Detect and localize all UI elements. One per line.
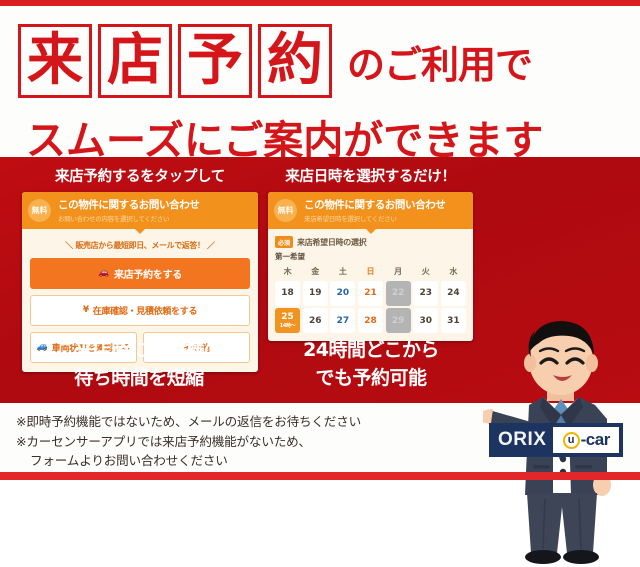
inquiry-form-header: 無料 この物件に関するお問い合わせ お問い合わせの内容を選択してください (22, 192, 258, 229)
caption-line: 24時間どこから (266, 337, 476, 365)
calendar-day-number: 27 (337, 316, 350, 326)
calendar-day-cell[interactable]: 23 (413, 281, 438, 306)
calendar-header-title: この物件に関するお問い合わせ (304, 197, 467, 212)
calendar-day-cell[interactable]: 2514時〜 (275, 308, 300, 333)
calendar-day-number: 21 (364, 288, 377, 298)
headline: 来 店 予 約 のご利用で スムーズにご案内ができます (0, 10, 640, 155)
calendar-day-number: 29 (392, 316, 405, 326)
kanji-box-2: 店 (98, 24, 172, 98)
free-badge: 無料 (274, 199, 297, 222)
caption-line: でも予約可能 (266, 365, 476, 393)
reserve-visit-label: 来店予約をする (114, 266, 182, 281)
calendar-day-cell: 22 (386, 281, 411, 306)
calendar-day-cell[interactable]: 18 (275, 281, 300, 306)
calendar-section-head: 必須 来店希望日時の選択 (275, 236, 466, 248)
calendar-header-sub: 来店希望日時を選択してください (304, 213, 467, 223)
caption-line: ご来店時にお客様の (14, 337, 264, 365)
bottom-red-rule (0, 472, 640, 480)
calendar-section-title: 来店希望日時の選択 (297, 237, 366, 248)
calendar-day-time: 14時〜 (280, 322, 296, 329)
calendar-preference-label: 第一希望 (275, 251, 466, 262)
caption-left: ご来店時にお客様の待ち時間を短縮 (14, 337, 264, 392)
calendar-day-cell[interactable]: 24 (441, 281, 466, 306)
inquiry-lead-text: ＼ 販売店から最短即日、メールで返答！ ／ (30, 240, 250, 251)
calendar-day-number: 25 (281, 312, 294, 322)
calendar-day-header: 月 (386, 266, 411, 278)
top-red-rule (0, 0, 640, 6)
calendar-day-header: 日 (358, 266, 383, 278)
calendar-day-header: 水 (441, 266, 466, 278)
feature-right-title: 来店日時を選択するだけ！ (268, 165, 473, 186)
inquiry-header-title: この物件に関するお問い合わせ (58, 197, 252, 212)
calendar-day-number: 23 (420, 288, 433, 298)
calendar-day-header: 土 (330, 266, 355, 278)
calendar-form-mock: 無料 この物件に関するお問い合わせ 来店希望日時を選択してください 必須 来店希… (268, 192, 473, 341)
yen-icon: ¥ (83, 306, 89, 315)
calendar-grid[interactable]: 181920212223242514時〜262728293031 (275, 281, 466, 334)
calendar-day-header: 木 (275, 266, 300, 278)
car-icon: 🚗 (98, 269, 109, 278)
reserve-visit-button[interactable]: 🚗 来店予約をする (30, 258, 250, 289)
stock-quote-label: 在庫確認・見積依頼をする (93, 304, 197, 317)
calendar-day-number: 22 (392, 288, 405, 298)
logo-u-circle-icon: u (563, 432, 580, 449)
orix-ucar-logo: ORIX u -car (489, 423, 623, 457)
calendar-form-header: 無料 この物件に関するお問い合わせ 来店希望日時を選択してください (268, 192, 473, 229)
calendar-day-cell[interactable]: 21 (358, 281, 383, 306)
calendar-day-number: 24 (447, 288, 460, 298)
calendar-day-number: 28 (364, 316, 377, 326)
calendar-day-cell[interactable]: 28 (358, 308, 383, 333)
logo-car-text: -car (581, 430, 610, 450)
calendar-day-number: 18 (281, 288, 294, 298)
headline-tail: のご利用で (347, 34, 532, 89)
calendar-day-number: 26 (309, 316, 322, 326)
calendar-day-cell[interactable]: 30 (413, 308, 438, 333)
feature-left-title: 来店予約するをタップして (22, 165, 258, 186)
calendar-day-cell[interactable]: 19 (303, 281, 328, 306)
calendar-day-number: 19 (309, 288, 322, 298)
logo-brand-text: ORIX (490, 429, 553, 451)
disclaimer-line-1: ※即時予約機能ではないため、メールの返信をお待ちください (16, 412, 466, 432)
calendar-day-cell[interactable]: 31 (441, 308, 466, 333)
captions: ご来店時にお客様の待ち時間を短縮 24時間どこからでも予約可能 (0, 335, 478, 401)
header-notch (366, 229, 376, 234)
disclaimer: ※即時予約機能ではないため、メールの返信をお待ちください ※カーセンサーアプリで… (16, 412, 466, 471)
kanji-box-3: 予 (178, 24, 252, 98)
calendar-day-number: 30 (420, 316, 433, 326)
calendar-day-number: 31 (447, 316, 460, 326)
calendar-day-headers: 木金土日月火水 (275, 266, 466, 278)
header-notch (135, 229, 145, 234)
caption-right: 24時間どこからでも予約可能 (266, 337, 476, 392)
calendar-day-header: 金 (303, 266, 328, 278)
free-badge: 無料 (28, 199, 51, 222)
disclaimer-line-3: フォームよりお問い合わせください (16, 451, 466, 471)
logo-ucar-block: u -car (553, 427, 619, 453)
kanji-box-1: 来 (18, 24, 92, 98)
inquiry-header-sub: お問い合わせの内容を選択してください (58, 213, 252, 223)
promo-banner: 来 店 予 約 のご利用で スムーズにご案内ができます 来店予約するをタップして… (0, 0, 640, 480)
required-badge: 必須 (275, 236, 293, 248)
stock-quote-button[interactable]: ¥ 在庫確認・見積依頼をする (30, 295, 250, 326)
caption-line: 待ち時間を短縮 (14, 365, 264, 393)
headline-row-1: 来 店 予 約 のご利用で (18, 24, 532, 98)
calendar-day-number: 20 (337, 288, 350, 298)
feature-column-right: 来店日時を選択するだけ！ 無料 この物件に関するお問い合わせ 来店希望日時を選択… (268, 165, 473, 341)
calendar-day-cell[interactable]: 27 (330, 308, 355, 333)
disclaimer-line-2: ※カーセンサーアプリでは来店予約機能がないため、 (16, 432, 466, 452)
calendar-day-cell[interactable]: 20 (330, 281, 355, 306)
kanji-box-4: 約 (258, 24, 332, 98)
calendar-day-cell: 29 (386, 308, 411, 333)
calendar-day-header: 火 (413, 266, 438, 278)
calendar-day-cell[interactable]: 26 (303, 308, 328, 333)
